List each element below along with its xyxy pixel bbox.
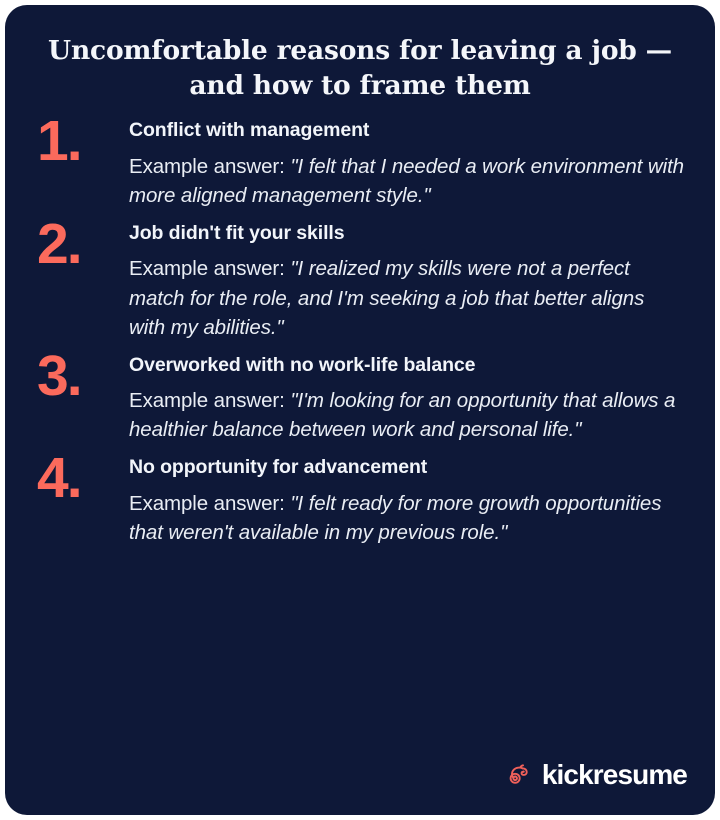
infographic-card: Uncomfortable reasons for leaving a job …	[5, 5, 715, 815]
reason-body: Job didn't fit your skills Example answe…	[129, 222, 689, 342]
brand-footer: kickresume	[504, 760, 687, 789]
page-title: Uncomfortable reasons for leaving a job …	[31, 29, 689, 103]
reason-answer: Example answer: "I'm looking for an oppo…	[129, 386, 685, 444]
reason-number: 3.	[31, 350, 129, 402]
reason-heading: Conflict with management	[129, 119, 685, 142]
reasons-list: 1. Conflict with management Example answ…	[31, 119, 689, 547]
list-item: 4. No opportunity for advancement Exampl…	[31, 456, 689, 547]
reason-body: Conflict with management Example answer:…	[129, 119, 689, 210]
reason-heading: Overworked with no work-life balance	[129, 354, 685, 377]
list-item: 3. Overworked with no work-life balance …	[31, 354, 689, 445]
reason-answer: Example answer: "I felt ready for more g…	[129, 489, 685, 547]
reason-heading: No opportunity for advancement	[129, 456, 685, 479]
reason-answer: Example answer: "I felt that I needed a …	[129, 152, 685, 210]
answer-label: Example answer:	[129, 389, 285, 412]
reason-heading: Job didn't fit your skills	[129, 222, 685, 245]
reason-answer: Example answer: "I realized my skills we…	[129, 254, 685, 341]
kickresume-chameleon-icon	[504, 760, 533, 789]
list-item: 1. Conflict with management Example answ…	[31, 119, 689, 210]
reason-number: 2.	[31, 218, 129, 270]
reason-body: Overworked with no work-life balance Exa…	[129, 354, 689, 445]
brand-name: kickresume	[542, 761, 687, 789]
answer-label: Example answer:	[129, 155, 285, 178]
reason-body: No opportunity for advancement Example a…	[129, 456, 689, 547]
reason-number: 4.	[31, 452, 129, 504]
list-item: 2. Job didn't fit your skills Example an…	[31, 222, 689, 342]
answer-label: Example answer:	[129, 492, 285, 515]
reason-number: 1.	[31, 115, 129, 167]
answer-label: Example answer:	[129, 257, 285, 280]
